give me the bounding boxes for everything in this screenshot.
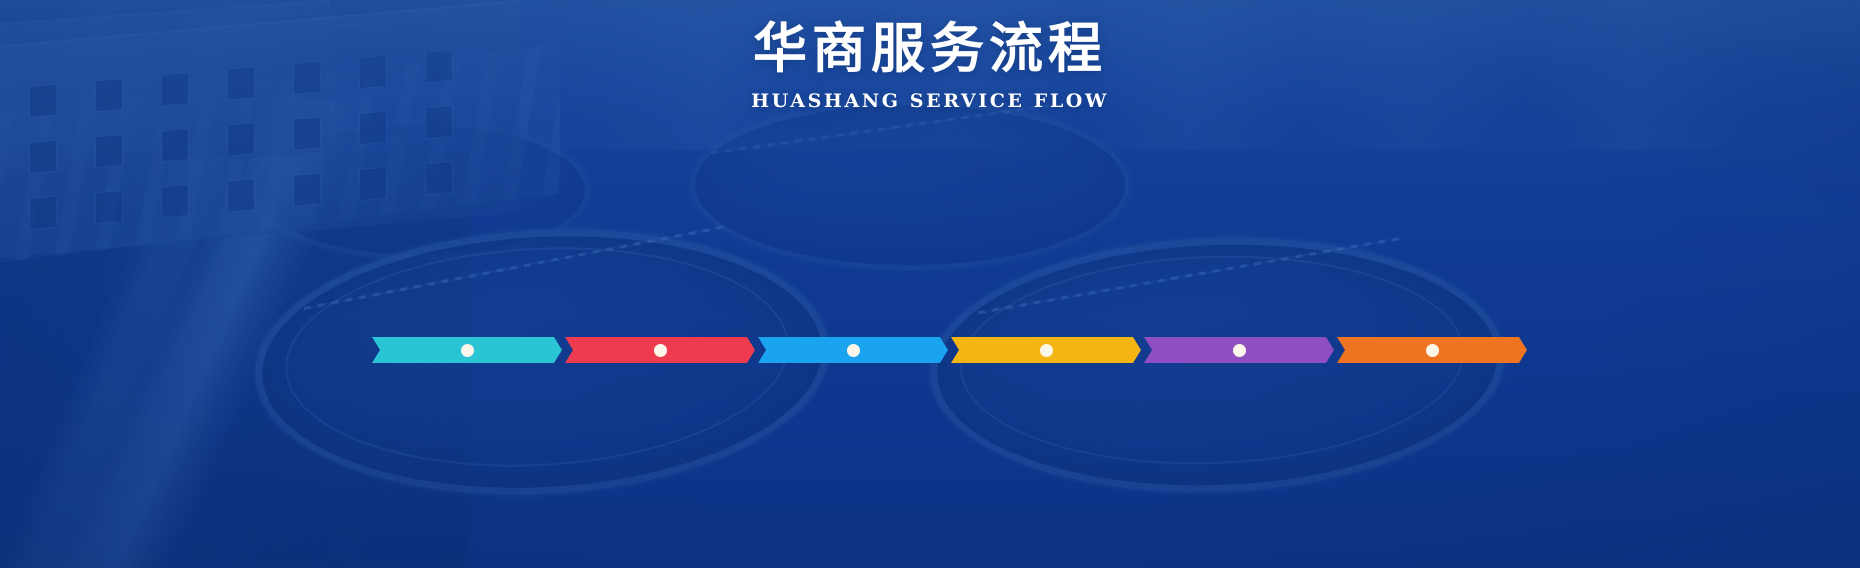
flow-step-label: 物流安装 [1109, 521, 1369, 557]
flow-step-node-dot [461, 344, 474, 357]
headset-support-icon [1407, 214, 1457, 264]
flow-step-node-dot [1233, 344, 1246, 357]
flow-step-icon-badge[interactable] [618, 197, 702, 281]
flow-step-node-dot [654, 344, 667, 357]
flow-step-node-dot [1426, 344, 1439, 357]
flow-step-icon-badge[interactable] [1390, 197, 1474, 281]
flow-step-connector-line [852, 363, 854, 423]
flow-step-icon-badge[interactable] [1004, 197, 1088, 281]
flow-step-1[interactable]: 客户询问 [372, 337, 562, 363]
flow-step-connector-line [1238, 363, 1240, 423]
flow-step-connector-line [1045, 277, 1047, 337]
meeting-table-icon [828, 437, 878, 485]
service-flow-diagram: 客户询问 方案报价 洽谈合同 签订合同 [0, 0, 1860, 568]
flow-step-icon-badge[interactable] [811, 419, 895, 503]
delivery-truck-icon [1212, 439, 1266, 483]
flow-step-connector-line [659, 277, 661, 337]
flow-step-connector-line [466, 363, 468, 423]
flow-step-label: 洽谈合同 [723, 521, 983, 557]
flow-step-node-dot [1040, 344, 1053, 357]
invoice-calculator-icon [638, 215, 682, 263]
contract-pen-icon [1022, 215, 1070, 263]
flow-step-icon-badge[interactable] [1197, 419, 1281, 503]
flow-step-node-dot [847, 344, 860, 357]
flow-step-icon-badge[interactable] [425, 419, 509, 503]
flow-step-2[interactable]: 方案报价 [565, 337, 755, 363]
service-flow-banner: 华商服务流程 HUASHANG SERVICE FLOW 客户询问 方案报价 [0, 0, 1860, 568]
flow-step-3[interactable]: 洽谈合同 [758, 337, 948, 363]
flow-step-label: 方案报价 [530, 147, 790, 183]
flow-step-5[interactable]: 物流安装 [1144, 337, 1334, 363]
flow-step-connector-line [1431, 277, 1433, 337]
flow-step-4[interactable]: 签订合同 [951, 337, 1141, 363]
flow-step-label: 签订合同 [916, 147, 1176, 183]
flow-step-label: 售后服务 [1302, 147, 1562, 183]
flow-step-6[interactable]: 售后服务 [1337, 337, 1527, 363]
flow-arrow-track: 客户询问 方案报价 洽谈合同 签订合同 [372, 337, 1530, 363]
flow-step-label: 客户询问 [337, 521, 597, 557]
speech-cloud-icon [443, 437, 491, 485]
